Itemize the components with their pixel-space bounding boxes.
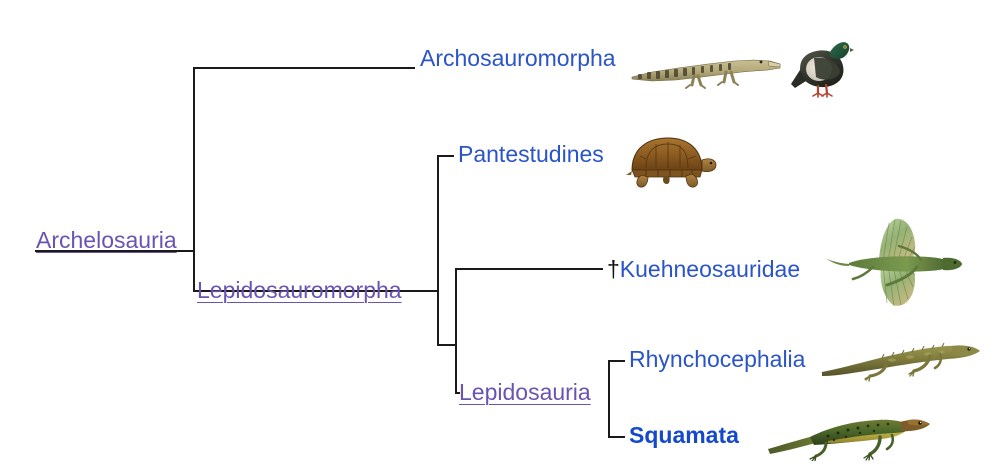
unnamed-node-vertical [455, 269, 457, 393]
branch-kuehneosauridae [455, 268, 603, 270]
tip-label-squamata[interactable]: Squamata [629, 422, 739, 448]
node-label-archelosauria[interactable]: Archelosauria [36, 229, 177, 252]
tip-pantestudines: Pantestudines [458, 143, 604, 167]
lepidosauria-node-vertical [608, 361, 610, 437]
lepidosauromorpha-node-vertical [437, 156, 439, 346]
tip-label-rhynchocephalia[interactable]: Rhynchocephalia [629, 346, 805, 372]
branch-squamata [608, 436, 625, 438]
node-label-lepidosauria[interactable]: Lepidosauria [459, 381, 591, 404]
tip-kuehneosauridae: †Kuehneosauridae [607, 256, 800, 283]
archelosauria-node-vertical [193, 68, 195, 292]
branch-archosauromorpha [193, 67, 415, 69]
cladogram-figure: Archelosauria Lepidosauromorpha Lepidosa… [0, 0, 1002, 475]
tuatara-illustration [822, 338, 982, 382]
tip-label-kuehneosauridae[interactable]: Kuehneosauridae [620, 256, 800, 282]
branch-pantestudines [437, 155, 454, 157]
branch-kuehneo-lepidosauria-node [437, 344, 456, 346]
extinct-dagger-icon: † [607, 256, 620, 282]
lizard-illustration [768, 413, 938, 461]
node-label-lepidosauromorpha[interactable]: Lepidosauromorpha [197, 279, 402, 302]
crocodile-illustration [630, 50, 782, 92]
tip-label-archosauromorpha[interactable]: Archosauromorpha [420, 45, 616, 71]
tip-squamata: Squamata [629, 424, 739, 448]
branch-rhynchocephalia [608, 360, 625, 362]
pigeon-illustration [790, 32, 854, 100]
kuehneosaurid-glider-illustration [825, 215, 980, 310]
tip-archosauromorpha: Archosauromorpha [420, 47, 616, 71]
tortoise-illustration [622, 130, 720, 192]
tip-label-pantestudines[interactable]: Pantestudines [458, 141, 604, 167]
tip-rhynchocephalia: Rhynchocephalia [629, 348, 805, 372]
